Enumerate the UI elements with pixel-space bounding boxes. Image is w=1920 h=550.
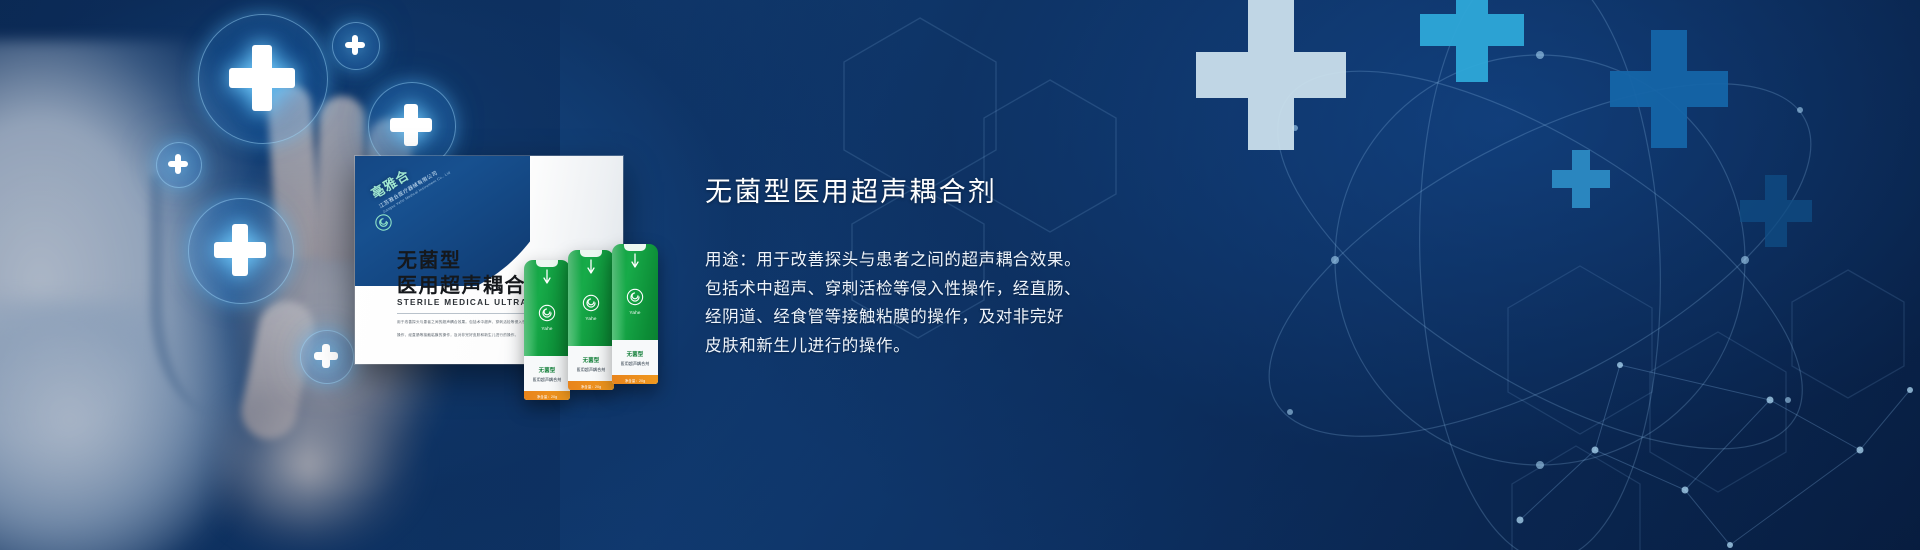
sachet-label-cn: 无菌型 — [568, 356, 614, 364]
sachet-label-cn2: 医用超声耦合剂 — [568, 367, 614, 373]
sachet-net-weight: 净含量：20g — [568, 384, 614, 389]
banner-body-line-1: 用途：用于改善探头与患者之间的超声耦合效果。 — [705, 246, 1265, 274]
sachet-label-cn2: 医用超声耦合剂 — [612, 361, 658, 367]
sachet-2: Yahe 无菌型 医用超声耦合剂 净含量：20g — [568, 250, 614, 390]
banner-body-line-2: 包括术中超声、穿刺活检等侵入性操作，经直肠、 — [705, 275, 1265, 303]
sachet-brand-label: Yahe — [524, 326, 570, 331]
product-hero-banner: 亳雅合 江苏雅合医疗器械有限公司 Jiangsu Yahe Medical In… — [0, 0, 1920, 550]
banner-body: 用途：用于改善探头与患者之间的超声耦合效果。 包括术中超声、穿刺活检等侵入性操作… — [705, 246, 1265, 360]
glow-cross-bottom-icon — [314, 344, 338, 368]
glow-cross-large-icon — [229, 45, 295, 111]
sachet-notch — [580, 250, 602, 257]
down-arrow-icon — [587, 259, 595, 275]
glow-cross-medium-icon — [390, 104, 432, 146]
sachet-label-cn2: 医用超声耦合剂 — [524, 377, 570, 383]
sachet-spiral-icon — [538, 304, 556, 322]
banner-body-line-3: 经阴道、经食管等接触粘膜的操作，及对非完好 — [705, 303, 1265, 331]
glow-cross-tiny-mid-icon — [168, 154, 188, 174]
sachet-label-cn: 无菌型 — [612, 350, 658, 358]
glow-cross-tiny-top-icon — [345, 35, 365, 55]
sachet-spiral-icon — [626, 288, 644, 306]
cross-decor-small-icon — [1552, 150, 1610, 208]
sachet-3: Yahe 无菌型 医用超声耦合剂 净含量：20g — [612, 244, 658, 384]
sachet-label-cn: 无菌型 — [524, 366, 570, 374]
sachet-brand-label: Yahe — [568, 316, 614, 321]
down-arrow-icon — [543, 269, 551, 285]
down-arrow-icon — [631, 253, 639, 269]
banner-headline: 无菌型医用超声耦合剂 — [705, 176, 1265, 208]
sachet-net-weight: 净含量：20g — [612, 378, 658, 383]
sachet-1: Yahe 无菌型 医用超声耦合剂 净含量：20g — [524, 260, 570, 400]
sachet-notch — [624, 244, 646, 251]
sachet-net-weight: 净含量：20g — [524, 394, 570, 399]
banner-copy: 无菌型医用超声耦合剂 用途：用于改善探头与患者之间的超声耦合效果。 包括术中超声… — [705, 176, 1265, 360]
network-dots-icon — [1500, 330, 1920, 550]
sachet-brand-label: Yahe — [612, 310, 658, 315]
cross-decor-faint-icon — [1740, 175, 1812, 247]
cross-decor-blue-icon — [1610, 30, 1728, 148]
cross-decor-large-icon — [1196, 0, 1346, 150]
sachet-spiral-icon — [582, 294, 600, 312]
cross-decor-cyan-icon — [1420, 0, 1524, 82]
sachet-group: Yahe 无菌型 医用超声耦合剂 净含量：20g Yahe 无菌型 医用超声耦合… — [524, 244, 674, 392]
hexagon-pattern-right-icon — [1480, 260, 1910, 550]
glow-cross-left-icon — [214, 224, 266, 276]
banner-body-line-4: 皮肤和新生儿进行的操作。 — [705, 332, 1265, 360]
sachet-notch — [536, 260, 558, 267]
